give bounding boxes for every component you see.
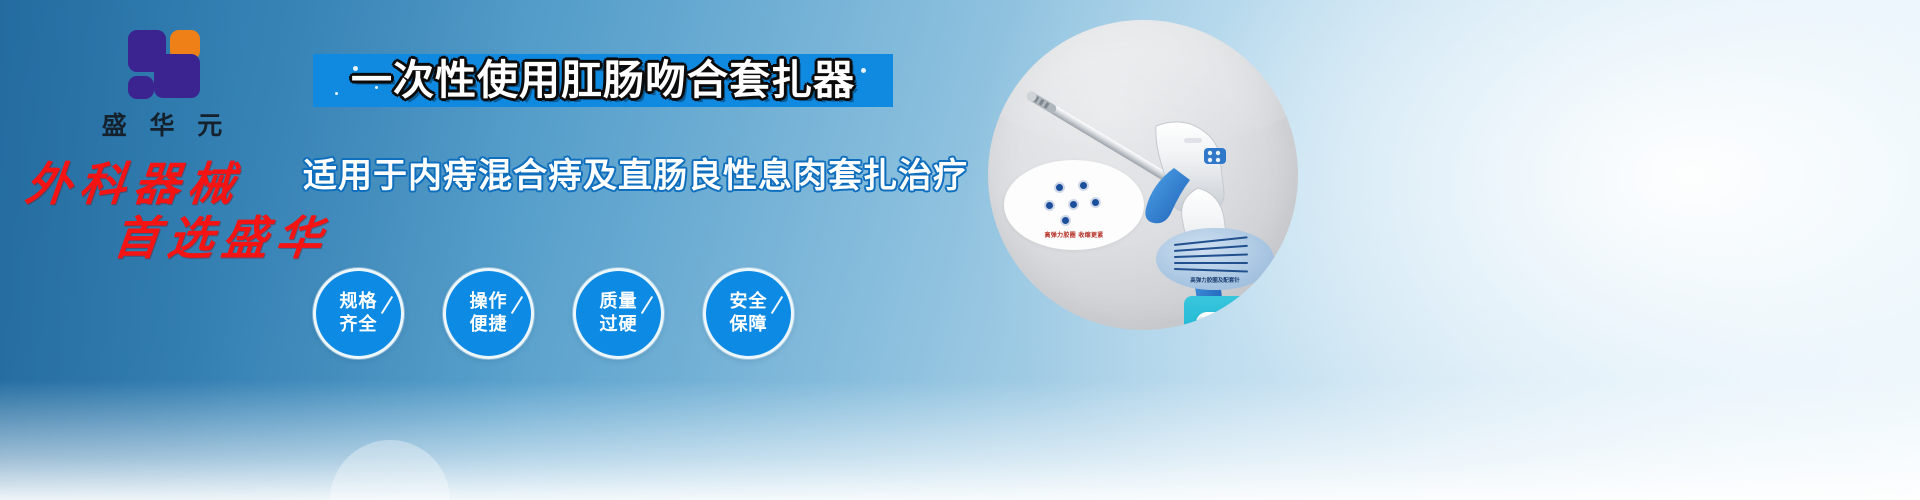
feature-badge-safety[interactable]: 安全 保障 [703,268,794,359]
slash-decor-icon [511,296,523,314]
inset-rubber-bands-caption: 高弹力胶圈 收缩更紧 [1004,230,1144,239]
badge-label-line2: 便捷 [470,314,508,337]
feature-badge-list: 规格 齐全 操作 便捷 质量 过硬 安全 保障 [313,268,794,359]
brand-logo[interactable]: 盛 华 元 [62,28,262,142]
sparkle-icon [861,68,866,73]
badge-label-line2: 保障 [730,314,768,337]
rod-icon [1174,262,1248,264]
rubber-band-icon [1060,215,1071,226]
rod-icon [1174,253,1248,258]
inset-rods-panel: 高弹力胶圈及配套针 [1156,228,1274,290]
feature-badge-operation[interactable]: 操作 便捷 [443,268,534,359]
product-photo: 高弹力胶圈 收缩更紧 高弹力胶圈及配套针 [988,20,1298,330]
feature-badge-quality[interactable]: 质量 过硬 [573,268,664,359]
inset-rods-caption: 高弹力胶圈及配套针 [1156,276,1274,284]
rubber-band-icon [1090,197,1101,208]
bottom-fade [0,380,1920,500]
page-title: 一次性使用肛肠吻合套扎器 [351,60,855,101]
slash-decor-icon [771,296,783,314]
logo-block-right-icon [154,54,200,98]
slash-decor-icon [381,296,393,314]
rod-icon [1174,245,1248,252]
rod-icon [1174,236,1248,246]
inset-cyan-panel [1184,296,1292,330]
slash-decor-icon [641,296,653,314]
rubber-band-icon [1078,180,1089,191]
slogan-line-2: 首选盛华 [111,202,334,268]
brand-name: 盛 华 元 [62,106,262,142]
device-head-icon [1196,312,1280,330]
badge-label-line1: 规格 [340,291,378,314]
badge-label-line1: 操作 [470,291,508,314]
feature-badge-specification[interactable]: 规格 齐全 [313,268,404,359]
shenghuayuan-blocks-logo-icon [116,28,208,100]
badge-label-line2: 齐全 [340,314,378,337]
badge-label-line1: 质量 [600,291,638,314]
rod-icon [1174,268,1248,273]
promo-banner: 盛 华 元 一次性使用肛肠吻合套扎器 适用于内痔混合痔及直肠良性息肉套扎治疗 外… [0,0,1920,500]
brand-slogan: 外科器械 首选盛华 [18,146,348,266]
logo-block-bottom-icon [128,76,154,99]
sparkle-icon [335,92,338,95]
badge-label-line1: 安全 [730,291,768,314]
page-subtitle: 适用于内痔混合痔及直肠良性息肉套扎治疗 [303,158,923,195]
badge-label-line2: 过硬 [600,314,638,337]
main-title-bar: 一次性使用肛肠吻合套扎器 [313,54,893,107]
rubber-band-icon [1044,200,1055,211]
inset-rubber-bands: 高弹力胶圈 收缩更紧 [1004,160,1144,250]
rubber-band-icon [1068,199,1079,210]
rubber-band-icon [1054,182,1065,193]
decorative-circle [330,440,450,500]
